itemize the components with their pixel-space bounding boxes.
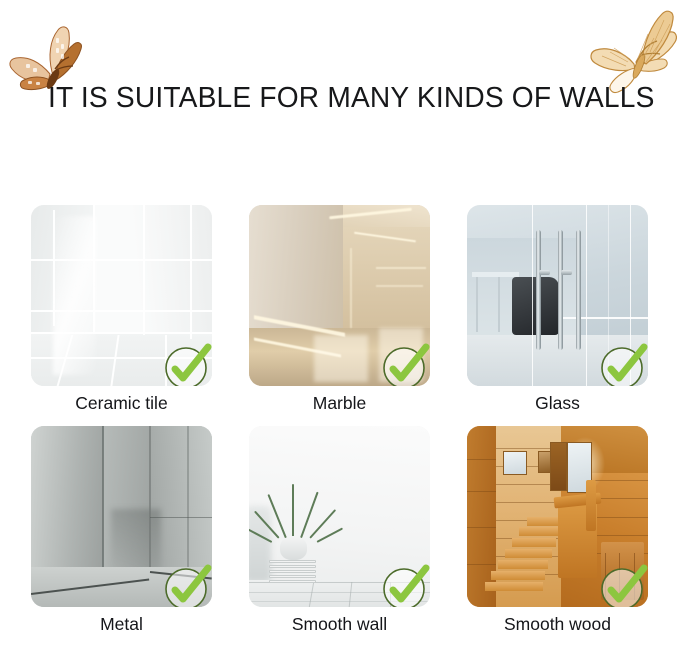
thumbnail-glass[interactable] — [467, 205, 648, 386]
thumbnail-metal[interactable] — [31, 426, 212, 607]
caption-smooth-wood: Smooth wood — [467, 607, 648, 639]
grid-item-smooth-wall[interactable]: Smooth wall — [249, 426, 430, 639]
product-feature-page: IT IS SUITABLE FOR MANY KINDS OF WALLS — [0, 0, 679, 646]
grid-item-metal[interactable]: Metal — [31, 426, 212, 639]
check-circle-icon — [380, 561, 430, 607]
check-circle-icon — [162, 561, 212, 607]
grid-item-smooth-wood[interactable]: Smooth wood — [467, 426, 648, 639]
caption-glass: Glass — [467, 386, 648, 418]
check-circle-icon — [598, 340, 648, 386]
caption-ceramic-tile: Ceramic tile — [31, 386, 212, 418]
thumbnail-marble[interactable] — [249, 205, 430, 386]
check-circle-icon — [598, 561, 648, 607]
grid-item-marble[interactable]: Marble — [249, 205, 430, 418]
page-header: IT IS SUITABLE FOR MANY KINDS OF WALLS — [0, 0, 679, 160]
check-circle-icon — [162, 340, 212, 386]
thumbnail-ceramic-tile[interactable] — [31, 205, 212, 386]
caption-marble: Marble — [249, 386, 430, 418]
grid-item-ceramic-tile[interactable]: Ceramic tile — [31, 205, 212, 418]
caption-metal: Metal — [31, 607, 212, 639]
check-circle-icon — [380, 340, 430, 386]
thumbnail-smooth-wood[interactable] — [467, 426, 648, 607]
caption-smooth-wall: Smooth wall — [249, 607, 430, 639]
grid-item-glass[interactable]: Glass — [467, 205, 648, 418]
surface-type-grid: Ceramic tile — [31, 205, 648, 639]
page-title: IT IS SUITABLE FOR MANY KINDS OF WALLS — [48, 82, 614, 114]
thumbnail-smooth-wall[interactable] — [249, 426, 430, 607]
